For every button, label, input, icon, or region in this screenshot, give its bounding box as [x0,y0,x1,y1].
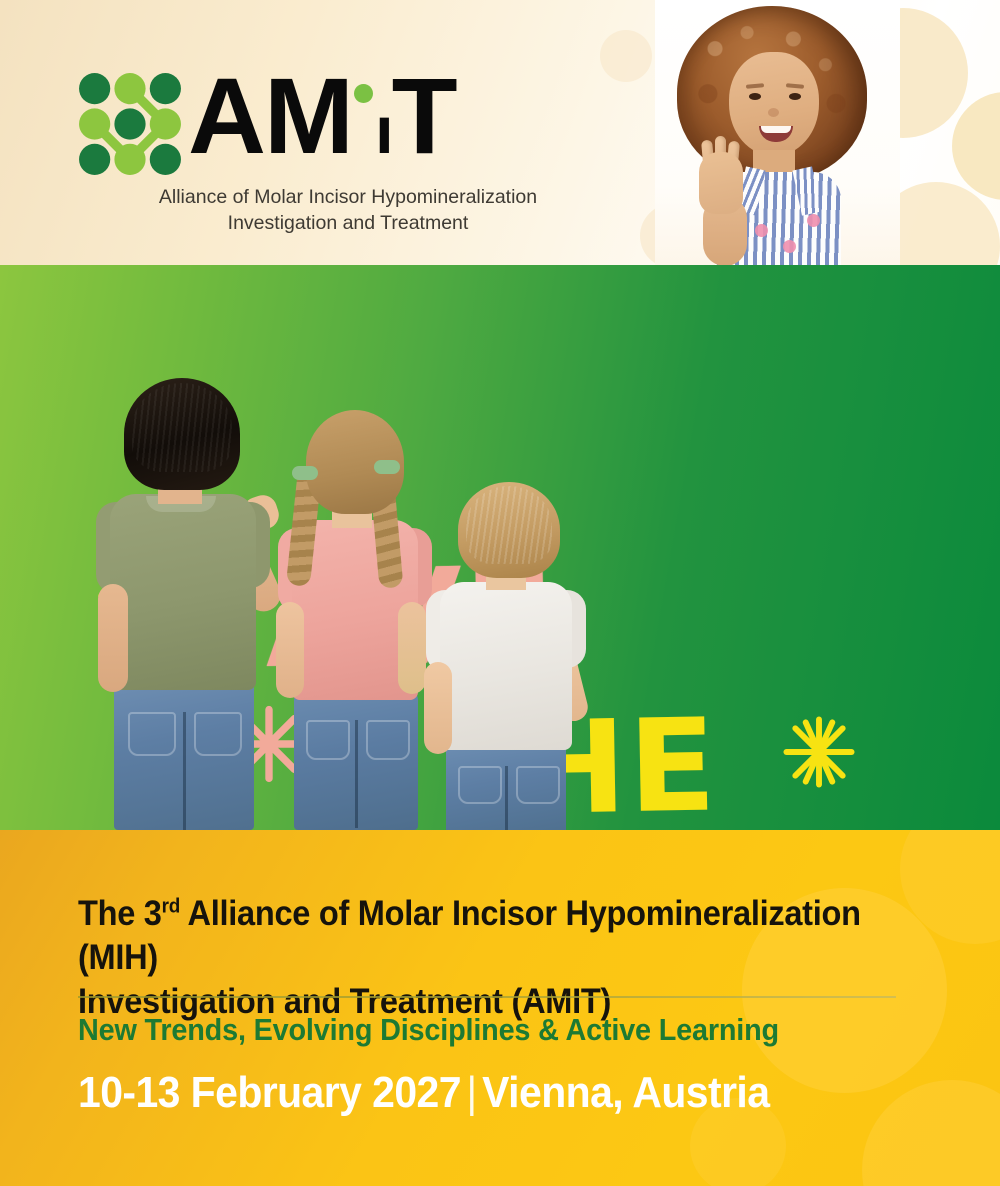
dress-flower [783,240,796,253]
dress-flower [755,224,768,237]
save-the-date-poster: AMıT Alliance of Molar Incisor Hypominer… [0,0,1000,1186]
wordmark-letter-t: T [392,72,456,161]
title-part2: Alliance of Molar Incisor Hypomineraliza… [78,894,861,977]
jeans-pocket [458,766,502,804]
child-boy-dark-hair [84,378,284,830]
girl-arm-left [276,602,304,698]
boy1-jeans [114,678,254,830]
girl-nose [768,108,779,117]
amit-wordmark: AMıT [188,72,456,161]
boy2-tshirt [440,582,572,750]
boy1-tshirt [110,494,256,690]
girl-arm-right [398,602,426,694]
logo-subtitle-line1: Alliance of Molar Incisor Hypomineraliza… [78,185,618,211]
child-boy-blond [424,482,598,830]
logo-subtitle: Alliance of Molar Incisor Hypomineraliza… [78,185,618,236]
girl-eye-left [749,93,761,100]
hero-green-band: SAVE THE DATE [0,265,1000,830]
girl-eye-right [789,93,801,100]
poster-footer: The 3rd Alliance of Molar Incisor Hypomi… [0,830,1000,1186]
header-child-photo [655,0,900,265]
decorative-circle [952,92,1000,200]
boy2-arm-left [424,662,452,754]
title-ordinal: rd [162,895,180,917]
poster-header: AMıT Alliance of Molar Incisor Hypominer… [0,0,1000,265]
wordmark-letter-a: A [188,72,264,161]
event-subtitle: New Trends, Evolving Disciplines & Activ… [78,1012,880,1048]
hair-scrunchie [292,466,318,480]
amit-dot-grid-logo-icon [78,72,182,176]
logo-subtitle-line2: Investigation and Treatment [78,211,618,237]
title-part1: The 3 [78,894,162,933]
event-date-location: 10-13 February 2027|Vienna, Austria [78,1068,880,1118]
dress-flower [807,214,820,227]
wordmark-letter-i-stem: ı [375,104,392,159]
wordmark-letter-i-dot [354,84,373,103]
boy2-jeans [446,740,566,830]
girl-hand [699,152,743,214]
hair-scrunchie [374,460,400,474]
jeans-pocket [516,766,560,804]
event-location: Vienna, Austria [482,1068,769,1117]
amit-logo: AMıT Alliance of Molar Incisor Hypominer… [78,72,618,236]
boy2-hair [458,482,560,578]
event-title: The 3rd Alliance of Molar Incisor Hypomi… [78,892,880,1024]
girl-jeans [294,690,418,830]
decorative-circle [862,1080,1000,1186]
boy1-hair [124,378,240,490]
event-date: 10-13 February 2027 [78,1068,461,1117]
jeans-pocket [128,712,176,756]
jeans-pocket [366,720,410,760]
date-location-separator: | [461,1068,482,1117]
child-girl-braids [262,410,438,830]
event-title-line1: The 3rd Alliance of Molar Incisor Hypomi… [78,892,880,980]
wordmark-letter-m: M [264,72,352,161]
star-yellow-right-icon [782,715,856,789]
footer-divider [78,996,896,998]
jeans-pocket [306,720,350,760]
jeans-pocket [194,712,242,756]
boy1-arm-left [98,584,128,692]
